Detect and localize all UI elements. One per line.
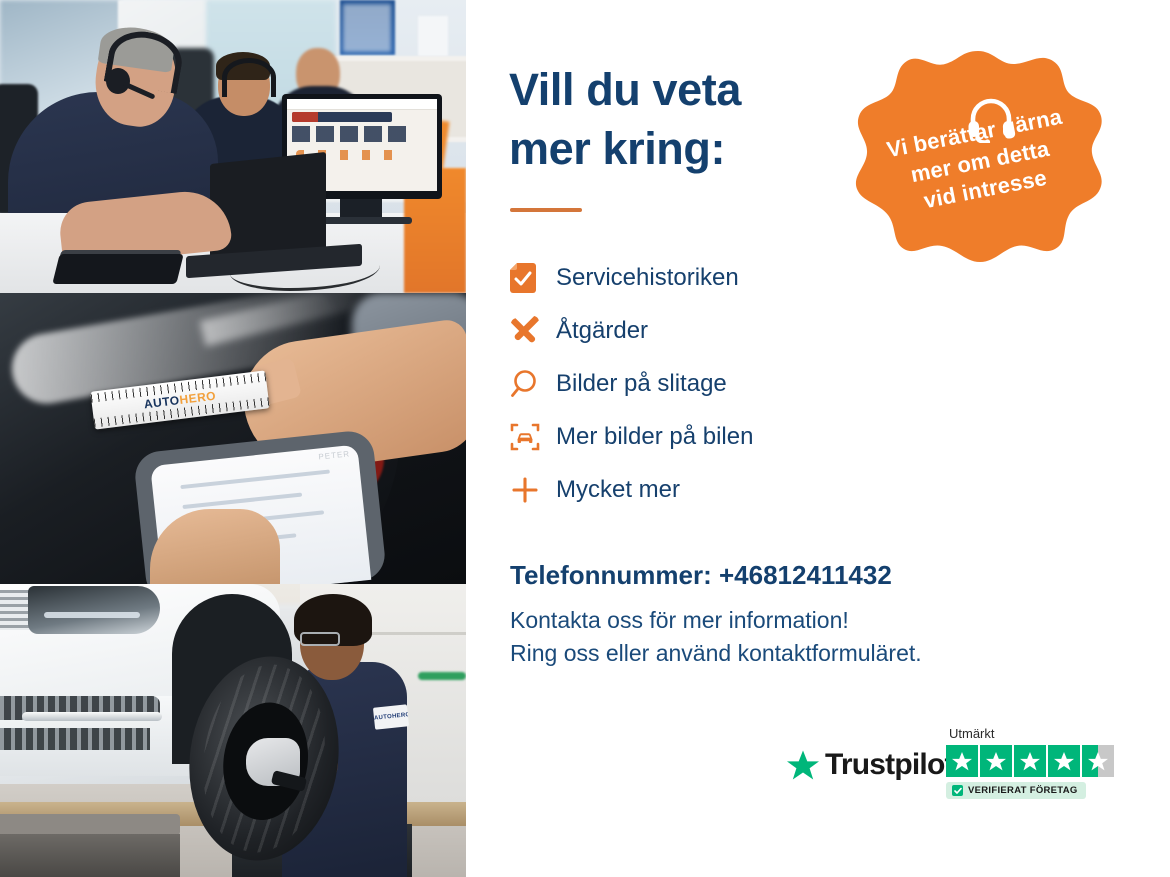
car-inspection-photo: AUTOHERO PETER	[0, 293, 466, 584]
tablet-row	[182, 493, 302, 510]
crossed-tools-icon	[510, 316, 556, 346]
headlight-led-strip	[44, 612, 140, 618]
contact-line-2: Ring oss eller använd kontaktformuläret.	[510, 637, 922, 670]
tire-service-photo: AUTOHERO	[0, 584, 466, 877]
monitor-car-thumbnails	[292, 126, 408, 142]
green-hose	[418, 672, 466, 680]
trustpilot-star-half	[1082, 745, 1114, 777]
trustpilot-widget[interactable]: Trustpilot Utmärkt	[786, 726, 1126, 821]
monitor-topbar	[287, 99, 437, 110]
bumper-vent-lower	[0, 728, 150, 750]
lift-pad	[0, 814, 180, 836]
promo-flyer: AUTOHERO PETER	[0, 0, 1170, 877]
car-scan-icon	[510, 422, 556, 452]
phone-number[interactable]: Telefonnummer: +46812411432	[510, 560, 892, 591]
page-title-line-1: Vill du veta	[509, 60, 839, 119]
trustpilot-star-icon	[786, 749, 820, 782]
car-headlight	[28, 586, 160, 634]
trustpilot-star-row	[946, 745, 1126, 777]
trustpilot-rating-label: Utmärkt	[949, 726, 1126, 741]
mechanic-shirt-logo: AUTOHERO	[373, 704, 409, 729]
banner-photo	[343, 4, 391, 52]
trustpilot-rating: Utmärkt	[946, 726, 1126, 800]
feature-item-wear-photos: Bilder på slitage	[510, 357, 930, 410]
bumper-chrome-trim	[22, 712, 162, 721]
callout-badge: Vi berättar gärna mer om detta vid intre…	[854, 47, 1102, 299]
feature-label: Mer bilder på bilen	[556, 423, 753, 451]
contact-instructions: Kontakta oss för mer information! Ring o…	[510, 604, 922, 669]
verified-company-badge: VERIFIERAT FÖRETAG	[946, 782, 1086, 799]
contact-line-1: Kontakta oss för mer information!	[510, 604, 922, 637]
monitor-stand	[340, 199, 382, 219]
feature-item-car-photos: Mer bilder på bilen	[510, 410, 930, 463]
trustpilot-brand-name: Trustpilot	[825, 748, 954, 782]
agent-two-headset	[222, 58, 276, 97]
feature-label: Bilder på slitage	[556, 370, 727, 398]
content-column: Vill du veta mer kring: Servicehistorike…	[466, 0, 1170, 877]
trustpilot-star-full	[946, 745, 978, 777]
feature-item-repairs: Åtgärder	[510, 304, 930, 357]
trustpilot-logo: Trustpilot	[786, 748, 954, 782]
agent-one-headset-earcup	[106, 68, 130, 94]
feature-label: Mycket mer	[556, 476, 680, 504]
wall-poster	[418, 16, 448, 56]
plus-icon	[510, 475, 556, 505]
page-title: Vill du veta mer kring:	[509, 60, 839, 179]
photo-column: AUTOHERO PETER	[0, 0, 466, 877]
mechanic-glasses	[300, 632, 340, 646]
verified-check-icon	[952, 785, 963, 796]
feature-label: Servicehistoriken	[556, 264, 739, 292]
feature-item-much-more: Mycket mer	[510, 463, 930, 516]
title-divider	[510, 208, 582, 212]
tablet-row	[180, 469, 330, 489]
call-center-photo	[0, 0, 466, 293]
tablet-on-desk	[52, 254, 183, 284]
verified-company-label: VERIFIERAT FÖRETAG	[968, 785, 1078, 796]
trustpilot-star-full	[1048, 745, 1080, 777]
checklist-document-icon	[510, 263, 556, 293]
monitor-base	[312, 217, 412, 224]
monitor-hero-accent	[292, 112, 318, 122]
car-lift	[0, 834, 180, 877]
trustpilot-star-full	[980, 745, 1012, 777]
trustpilot-star-full	[1014, 745, 1046, 777]
magnifier-icon	[510, 369, 556, 399]
page-title-line-2: mer kring:	[509, 119, 839, 178]
feature-label: Åtgärder	[556, 317, 648, 345]
